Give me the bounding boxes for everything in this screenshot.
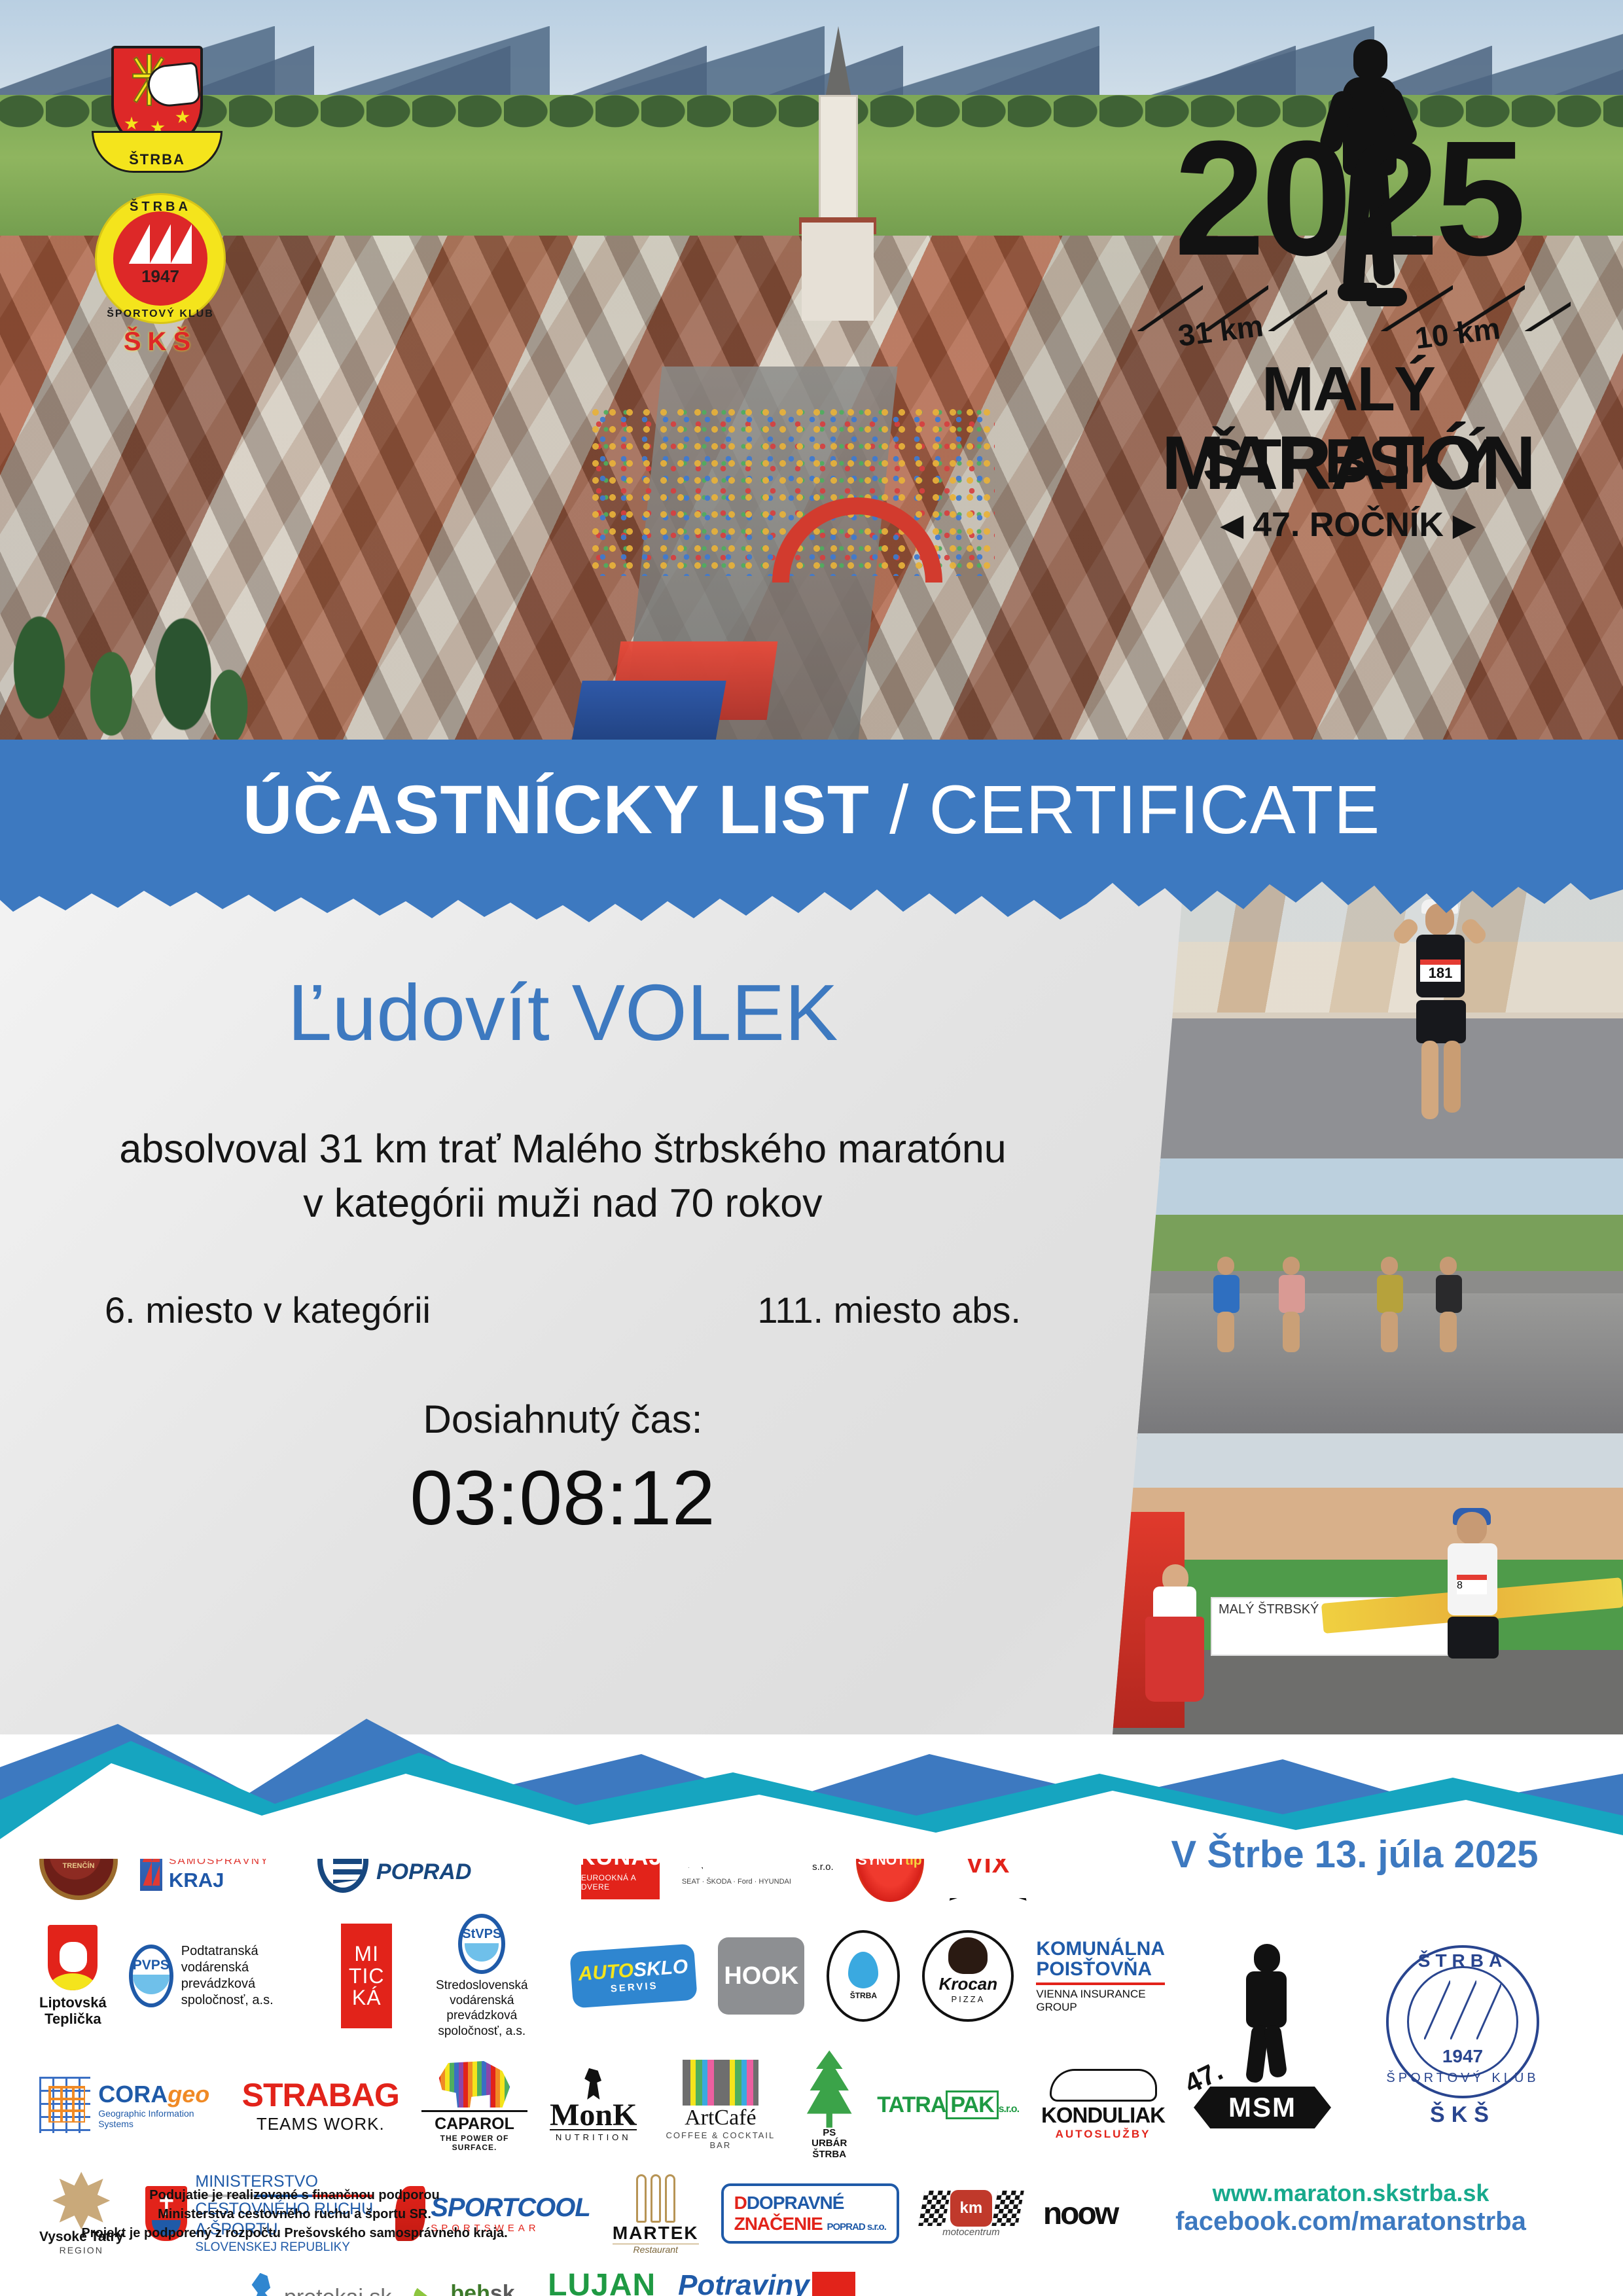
stvps-emblem-icon: StVPS (458, 1914, 505, 1974)
checkered-flag-icon (918, 2191, 951, 2226)
funding-note: Podujatie je realizované s finančnou pod… (52, 2186, 537, 2243)
runner-figure (1374, 1257, 1404, 1355)
sponsor-label: PS URBÁR (804, 2128, 855, 2149)
sponsor-label2: geo (168, 2081, 209, 2108)
sponsor-ps-urbar-strba: PS URBÁR ŠTRBA (804, 2051, 855, 2161)
placement-row: 6. miesto v kategórii 111. miesto abs. (0, 1289, 1126, 1331)
sponsor-caparol: CAPAROL THE POWER OF SURFACE. (421, 2058, 527, 2152)
sponsor-pd-strba: ŠTRBA (827, 1930, 900, 2022)
elephant-icon (436, 2058, 513, 2108)
sponsor-konduliak: KONDULIAK AUTOSLUŽBY (1041, 2069, 1165, 2141)
edition-label: 47. ROČNÍK (1253, 506, 1444, 544)
strba-coat-of-arms: ŠTRBA (92, 33, 223, 183)
certificate-content: Ľudovít VOLEK absolvoval 31 km trať Malé… (0, 929, 1126, 1543)
sponsor-dopravne-znacenie: DDOPRAVNÉ ZNAČENIE POPRAD s.r.o. (721, 2183, 899, 2244)
club-stamp: ŠTRBA 1947 ŠPORTOVÝ KLUB ŠKŠ (1374, 1924, 1551, 2140)
sponsor-sublabel: COFFEE & COCKTAIL BAR (659, 2130, 781, 2150)
stamp-bottom-text: ŠKŠ (1374, 2102, 1551, 2128)
car-brand-list: SEAT · ŠKODA · Ford · HYUNDAI (682, 1878, 834, 1886)
oval-frame (922, 1930, 1014, 2022)
certificate-title: ÚČASTNÍCKY LIST / CERTIFICATE (243, 771, 1380, 850)
sponsor-label: CORA (98, 2081, 168, 2108)
sponsor-label: DOPRAVNÉ (747, 2193, 844, 2213)
runners-icon (249, 2273, 279, 2296)
tree-icon (804, 2051, 855, 2128)
liptovska-crest-icon (48, 1925, 98, 1990)
certificate-page: ŠTRBA ŠTRBA 1947 ŠPORTOVÝ KLUB ŠKŠ 2025 … (0, 0, 1623, 2296)
sponsor-sublabel: s.r.o. (717, 1861, 834, 1873)
sponsor-sublabel: motocentrum (921, 2227, 1021, 2238)
sponsor-krocan-pizza: Krocan PIZZA (922, 1930, 1014, 2022)
place-absolute: 111. miesto abs. (757, 1289, 1021, 1331)
sponsor-sublabel: Geographic Information Systems (98, 2108, 219, 2129)
mountain-peaks-icon (129, 224, 192, 264)
sponsor-label2: POISŤOVŇA (1036, 1959, 1165, 1980)
sponsor-label: StVPS (462, 1927, 501, 1942)
sponsor-sublabel: AUTOSLUŽBY (1041, 2128, 1165, 2141)
sponsor-sublabel: SERVIS (611, 1980, 659, 1994)
sponsor-label2: PAK (946, 2090, 998, 2119)
sponsor-label: AUTO (578, 1960, 635, 1985)
sponsor-label: pretekaj.sk (284, 2285, 391, 2296)
arrow-right-icon: ▶ (1453, 509, 1475, 541)
sponsor-sublabel2: KÁ (352, 1987, 382, 2009)
sponsor-sublabel: TRENČÍN (63, 1862, 95, 1871)
club-logo-bottom-text: ŠPORTOVÝ KLUB (95, 308, 226, 320)
certificate-description: absolvoval 31 km trať Malého štrbského m… (0, 1122, 1126, 1230)
sponsor-label: MI (354, 1943, 379, 1965)
club-abbreviation: ŠKŠ (95, 327, 226, 357)
description-line2: v kategórii muži nad 70 rokov (0, 1176, 1126, 1230)
stamp-mid-text: ŠPORTOVÝ KLUB (1374, 2071, 1551, 2086)
sponsor-lujan-plus: LUJAN Plus s.r.o. (548, 2267, 656, 2296)
facebook-link[interactable]: facebook.com/maratonstrba (1128, 2207, 1573, 2236)
sponsor-stvps: StVPS Stredoslovenská vodárenská prevádz… (414, 1914, 549, 2039)
pvps-emblem-icon: PVPS (129, 1945, 173, 2007)
event-edition: ◀ 47. ROČNÍK ▶ (1119, 505, 1577, 545)
sponsor-corageo: CORAgeo Geographic Information Systems (39, 2077, 220, 2133)
distance-row: 31 km 10 km (1119, 275, 1577, 347)
club-logo-top-text: ŠTRBA (95, 200, 226, 215)
sponsor-komunalna-poistovna: KOMUNÁLNA POISŤOVŇA VIENNA INSURANCE GRO… (1036, 1939, 1165, 2014)
sponsor-label: STRABAG (242, 2076, 399, 2114)
sponsor-sublabel: Podtatranská vodárenská (181, 1943, 319, 1976)
sponsor-sublabel2: prevádzková spoločnosť, a.s. (414, 2008, 549, 2038)
church (802, 26, 874, 314)
sponsor-sublabel2: POPRAD s.r.o. (827, 2221, 886, 2233)
msm-event-logo: 47. MSM (1185, 1937, 1342, 2134)
sponsor-label: CAPAROL (421, 2110, 527, 2134)
sponsor-sublabel2: KRAJ (169, 1870, 295, 1890)
mountain-peaks-icon (1424, 1981, 1501, 2039)
stamp-top-text: ŠTRBA (1374, 1950, 1551, 1971)
sponsor-sublabel: s.r.o. (999, 2104, 1019, 2115)
sponsor-strabag: STRABAG TEAMS WORK. (242, 2076, 399, 2134)
sponsor-hook: HOOK (718, 1937, 804, 2015)
description-line1: absolvoval 31 km trať Malého štrbského m… (0, 1122, 1126, 1175)
checkered-flag-icon (991, 2191, 1024, 2226)
torn-edge-divider (0, 874, 1623, 926)
certificate-title-band: ÚČASTNÍCKY LIST / CERTIFICATE (0, 740, 1623, 880)
issue-date: V Štrbe 13. júla 2025 (1145, 1833, 1564, 1876)
sponsor-monk-nutrition: MonK NUTRITION (550, 2068, 637, 2142)
sponsor-martek: MARTEK Restaurant (613, 2173, 699, 2255)
sponsor-sublabel: REGION (39, 2245, 123, 2255)
finish-time: 03:08:12 (0, 1454, 1126, 1543)
participant-name: Ľudovít VOLEK (0, 969, 1126, 1056)
sponsor-sublabel: POPRAD (376, 1861, 559, 1884)
website-link[interactable]: www.maraton.skstrba.sk (1128, 2179, 1573, 2207)
sponsor-sublabel: ŠTRBA (850, 1991, 877, 2000)
msm-abbreviation: MSM (1194, 2087, 1331, 2128)
sponsor-row: Liptovská Teplička PVPS Podtatranská vod… (39, 1914, 1165, 2039)
sponsor-label2: SKLO (633, 1956, 688, 1981)
sponsor-label: km (950, 2190, 992, 2227)
divider (1036, 1982, 1165, 1985)
crest-banner-label: ŠTRBA (92, 131, 223, 173)
sponsor-miticka: MI TIC KÁ (341, 1924, 392, 2028)
sponsor-sublabel: TEAMS WORK. (242, 2114, 399, 2134)
sponsor-sublabel: EUROOKNÁ A DVERE (581, 1873, 660, 1892)
sponsor-sublabel2: prevádzková spoločnosť, a.s. (181, 1976, 319, 2009)
sponsor-artcafe: ArtCafé COFFEE & COCKTAIL BAR (659, 2060, 781, 2150)
runner-figure (1211, 1257, 1241, 1355)
sponsor-label: KONDULIAK (1041, 2103, 1165, 2128)
water-drop-icon (848, 1952, 878, 1988)
sponsor-label: MARTEK (613, 2223, 699, 2244)
sponsor-row: pretekaj.sk behsk Web, ktorý vás rozhýbe (39, 2267, 1165, 2296)
event-logo: 2025 31 km 10 km MALÝ ŠTRBSKÝ MARATÓN ◀ … (1119, 39, 1577, 589)
sponsor-pvps: PVPS Podtatranská vodárenská prevádzková… (129, 1943, 319, 2009)
certificate-title-separator: / (870, 772, 929, 848)
sponsor-label: HOOK (724, 1962, 798, 1990)
sponsor-potraviny-serfel: Potraviny ŠERFEL (678, 2269, 855, 2296)
church-spire (825, 26, 851, 98)
runner-figure: 181 (1387, 897, 1492, 1145)
sponsor-tatrapak: TATRAPAKs.r.o. (877, 2092, 1019, 2118)
photo-collage: 181 MALÝ ŠTRBSKÝ MARATÓN (1113, 877, 1623, 1734)
car-icon (1050, 2069, 1157, 2102)
place-in-category: 6. miesto v kategórii (105, 1289, 431, 1331)
stamp-year: 1947 (1374, 2046, 1551, 2067)
sponsor-label: Potraviny (678, 2269, 810, 2296)
sponsor-label: Liptovská (39, 1994, 107, 2011)
mountain-wave-divider (0, 1676, 1623, 1859)
sponsor-sublabel: ZNAČENIE (734, 2214, 823, 2234)
sponsor-noow: noow (1043, 2196, 1117, 2232)
sponsor-sublabel: Restaurant (613, 2244, 699, 2255)
funding-note-line3: Projekt je podporený z rozpočtu Prešovsk… (52, 2224, 537, 2243)
church-nave (802, 223, 874, 321)
sponsor-sublabel: Stredoslovenská vodárenská (414, 1978, 549, 2008)
event-year: 2025 (1119, 124, 1577, 272)
sponsor-label: MonK (550, 2101, 637, 2129)
grid-icon (39, 2077, 90, 2133)
funding-note-line1: Podujatie je realizované s finančnou pod… (52, 2186, 537, 2205)
time-label: Dosiahnutý čas: (0, 1397, 1126, 1442)
race-bib-number: 8 (1457, 1575, 1487, 1594)
sponsor-pretekaj-sk: pretekaj.sk (249, 2273, 391, 2296)
runner-figure (1276, 1257, 1306, 1355)
certificate-title-sk: ÚČASTNÍCKY LIST (243, 772, 870, 848)
sponsor-label: KOMUNÁLNA (1036, 1939, 1165, 1960)
sports-club-logo: ŠTRBA 1947 ŠPORTOVÝ KLUB (95, 193, 226, 324)
red-block (812, 2272, 855, 2296)
sponsor-sublabel: TIC (349, 1965, 385, 1988)
arc-icon (414, 2282, 446, 2296)
sponsor-row: CORAgeo Geographic Information Systems S… (39, 2051, 1165, 2161)
sponsor-label: PVPS (133, 1958, 169, 1973)
runner-figure (1433, 1257, 1463, 1355)
arrow-left-icon: ◀ (1221, 509, 1243, 541)
sponsor-beh-sk: behsk Web, ktorý vás rozhýbe (414, 2281, 526, 2296)
sponsor-sublabel: Teplička (39, 2011, 107, 2027)
sponsor-label: beh (450, 2281, 490, 2296)
sponsor-sublabel: VIENNA INSURANCE GROUP (1036, 1988, 1165, 2014)
blue-tent (569, 681, 726, 746)
runner-silhouette-icon (1230, 1944, 1302, 2081)
cutlery-icon (613, 2173, 699, 2223)
sponsor-km-motocentrum: km motocentrum (921, 2190, 1021, 2238)
sponsor-label: ArtCafé (659, 2106, 781, 2130)
sponsor-label: noow (1043, 2196, 1117, 2232)
certificate-title-en: CERTIFICATE (929, 772, 1380, 848)
contact-links: www.maraton.skstrba.sk facebook.com/mara… (1128, 2179, 1573, 2236)
sponsor-label: TATRA (877, 2092, 946, 2117)
sponsor-label2: sk (490, 2281, 515, 2296)
photo-runners-on-hill (1113, 1158, 1623, 1440)
sponsor-sublabel: THE POWER OF SURFACE. (421, 2134, 527, 2152)
sponsor-label: LUJAN (548, 2267, 656, 2296)
coffee-cup-icon (683, 2060, 758, 2106)
monk-figure-icon (582, 2068, 605, 2100)
funding-note-line2: Ministerstva cestovného ruchu a športu S… (52, 2205, 537, 2224)
club-logo-year: 1947 (95, 266, 226, 287)
event-title-line2: MARATÓN (1119, 419, 1577, 507)
sponsor-liptovska-teplicka: Liptovská Teplička (39, 1925, 107, 2028)
sponsor-autosklo-servis: AUTOSKLO SERVIS (571, 1948, 696, 2004)
trees (0, 537, 249, 746)
sponsor-sublabel: ŠTRBA (804, 2149, 855, 2161)
race-bib-number: 181 (1420, 960, 1461, 982)
